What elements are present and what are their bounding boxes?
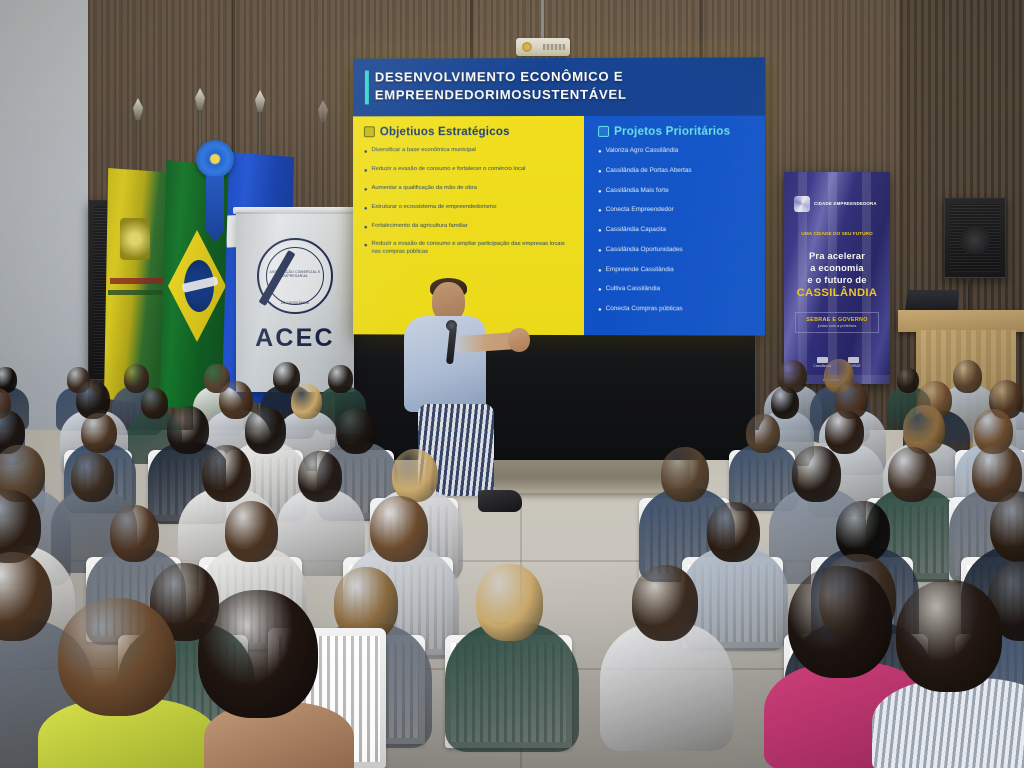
side-wall — [0, 0, 92, 430]
flag-band — [110, 278, 164, 284]
audience-member-head — [58, 598, 176, 716]
slide-bullet-objective-text: Reduzir a evasão de consumo e ampliar pa… — [371, 241, 575, 256]
ceiling-projector-icon — [516, 38, 570, 56]
slide-bullet-project: ●Conecta Empreendedor — [598, 206, 757, 217]
audience-member-head — [476, 564, 543, 640]
slide-title-line1: DESENVOLVIMENTO ECONÔMICO E — [375, 67, 757, 86]
bullet-dot-icon: ● — [598, 167, 602, 178]
bullet-dot-icon: ● — [598, 246, 602, 257]
banner-callout-line2: juntos com a prefeitura — [798, 324, 876, 328]
audience-member-head — [788, 566, 892, 678]
slide-bullet-objective-text: Fortalecimento da agricultura familiar — [371, 222, 467, 233]
slide-right-heading-text: Projetos Prioritários — [614, 125, 730, 138]
audience-member-foreground — [178, 590, 398, 768]
banner-callout-box: SEBRAE E GOVERNO juntos com a prefeitura — [795, 312, 879, 333]
conference-photo-scene: ASSOCIAÇÃO COMERCIAL E EMPRESARIAL DE CA… — [0, 0, 1024, 768]
audience-member-torso — [445, 622, 579, 752]
bullet-dot-icon: ● — [598, 206, 602, 217]
microphone-stand — [968, 280, 970, 314]
slide-bullet-objective: ●Reduzir a evasão de consumo e fortalece… — [364, 166, 575, 177]
presenter-shoe — [478, 490, 522, 512]
slide-right-column: Projetos Prioritários ●Valoriza Agro Cas… — [584, 116, 765, 336]
bullet-dot-icon: ● — [364, 147, 368, 158]
bullet-dot-icon: ● — [598, 187, 602, 198]
slide-right-bullets: ●Valoriza Agro Cassilândia●Cassilândia d… — [598, 147, 757, 317]
slide-bullet-project: ●Cassilândia Oportunidades — [598, 246, 757, 258]
slide-bullet-project-text: Empreende Cassilândia — [606, 266, 674, 278]
slide-title-accent-bar — [365, 71, 369, 105]
document-badge-icon — [598, 126, 609, 137]
slide-bullet-project-text: Valoriza Agro Cassilândia — [606, 147, 679, 158]
slide-left-heading-text: Objetiuos Estratégicos — [380, 125, 510, 138]
audience-member-head — [198, 590, 318, 718]
slide-bullet-project-text: Cassilândia Mais forte — [606, 187, 669, 198]
slide-left-bullets: ●Diversificar a base econômica municipal… — [364, 147, 575, 256]
banner-city-name: CASSILÂNDIA — [788, 286, 886, 300]
audience-member-head — [707, 502, 760, 563]
sebrae-rollup-banner: CIDADE EMPREENDEDORA UMA CIDADE DO SEU F… — [784, 172, 890, 384]
brazil-flag-globe — [184, 260, 214, 312]
slide-title-line2: EMPREENDEDORIMOSUSTENTÁVEL — [375, 85, 757, 104]
banner-headline-line1: Pra acelerar — [788, 250, 886, 262]
audience-member — [597, 565, 736, 764]
flag-rosette-ribbon — [206, 176, 224, 242]
slide-bullet-project: ●Cassilândia de Portas Abertas — [598, 167, 757, 179]
slide-header: DESENVOLVIMENTO ECONÔMICO E EMPREENDEDOR… — [353, 57, 765, 116]
flag-band — [108, 290, 164, 295]
banner-headline-line2: a economia — [788, 262, 886, 274]
slide-bullet-objective: ●Diversificar a base econômica municipal — [364, 147, 575, 159]
slide-title: DESENVOLVIMENTO ECONÔMICO E EMPREENDEDOR… — [375, 67, 757, 103]
audience-member-head — [370, 496, 428, 562]
slide-bullet-objective-text: Aumentar a qualificação da mão de obra — [371, 185, 476, 196]
bullet-dot-icon: ● — [364, 204, 368, 215]
slide-left-heading: Objetiuos Estratégicos — [364, 125, 575, 138]
slide-bullet-objective: ●Fortalecimento da agricultura familiar — [364, 222, 575, 234]
bullet-dot-icon: ● — [598, 286, 602, 297]
bullet-dot-icon: ● — [598, 266, 602, 277]
banner-logo: CIDADE EMPREENDEDORA — [794, 196, 882, 212]
speaker-woofer — [960, 225, 990, 255]
lectern-top — [898, 310, 1024, 332]
audience-member-head — [225, 501, 279, 562]
slide-right-heading: Projetos Prioritários — [598, 125, 757, 138]
audience-member-torso — [600, 622, 732, 751]
slide-bullet-objective: ●Reduzir a evasão de consumo e ampliar p… — [364, 241, 575, 256]
audience-member-head — [202, 445, 252, 502]
slide-bullet-project: ●Cassilândia Capacita — [598, 226, 757, 238]
banner-kicker: UMA CIDADE DO SEU FUTURO — [784, 232, 890, 238]
slide-bullet-project: ●Empreende Cassilândia — [598, 266, 757, 278]
bullet-dot-icon: ● — [364, 222, 368, 233]
slide-bullet-objective: ●Estruturar o ecossistema de empreendedo… — [364, 204, 575, 215]
bullet-dot-icon: ● — [598, 147, 602, 158]
audience-member-head — [896, 580, 1002, 692]
audience-member-head — [81, 413, 117, 454]
slide-bullet-objective-text: Estruturar o ecossistema de empreendedor… — [371, 204, 496, 215]
slide-bullet-project-text: Cassilândia de Portas Abertas — [606, 167, 692, 178]
audience-member-head — [661, 447, 709, 502]
projector-mount-rod — [541, 0, 544, 42]
flag-rosette — [196, 140, 234, 178]
slide-bullet-objective-text: Reduzir a evasão de consumo e fortalecer… — [371, 166, 525, 177]
bullet-dot-icon: ● — [364, 166, 368, 177]
slide-bullet-project-text: Cassilândia Capacita — [606, 226, 666, 237]
bullet-dot-icon: ● — [598, 305, 602, 316]
list-badge-icon — [364, 126, 375, 137]
slide-bullet-project: ●Conecta Compras públicas — [598, 305, 757, 317]
slide-bullet-project-text: Conecta Compras públicas — [606, 305, 683, 317]
presenter-shirt — [404, 316, 486, 412]
projector-lens — [522, 42, 532, 52]
slide-bullet-project-text: Cassilândia Oportunidades — [606, 246, 683, 258]
bullet-dot-icon: ● — [364, 185, 368, 196]
bullet-dot-icon: ● — [598, 226, 602, 237]
audience-member-head — [888, 447, 936, 502]
wall-speaker-right — [944, 198, 1006, 278]
audience-member-head — [836, 501, 890, 563]
audience-member — [442, 564, 582, 765]
audience-member-head — [298, 451, 342, 501]
audience-member-head — [336, 408, 376, 454]
slide-bullet-project-text: Cultiva Cassilândia — [606, 286, 661, 298]
microphone-capsule — [446, 320, 457, 331]
slide-bullet-objective: ●Aumentar a qualificação da mão de obra — [364, 185, 575, 196]
cidade-empreendedora-icon — [794, 196, 810, 212]
projector-vent — [543, 44, 565, 50]
presenter-hand — [508, 328, 530, 352]
slide-bullet-project-text: Conecta Empreendedor — [606, 206, 674, 217]
banner-callout-line1: SEBRAE E GOVERNO — [798, 317, 876, 323]
slide-bullet-project: ●Cassilândia Mais forte — [598, 187, 757, 198]
banner-logo-text: CIDADE EMPREENDEDORA — [814, 201, 877, 207]
audience-member-head — [392, 449, 439, 502]
bullet-dot-icon: ● — [364, 241, 368, 255]
slide-bullet-objective-text: Diversificar a base econômica municipal — [371, 147, 475, 158]
audience-member-head — [110, 505, 160, 562]
slide-bullet-project: ●Cultiva Cassilândia — [598, 286, 757, 298]
municipal-flag-emblem — [120, 218, 150, 260]
slide-bullet-project: ●Valoriza Agro Cassilândia — [598, 147, 757, 159]
audience-member-foreground — [886, 580, 1024, 768]
audience-member-head — [632, 565, 698, 640]
audience-member-head — [792, 446, 841, 502]
banner-headline-line3: e o futuro de — [788, 274, 886, 286]
banner-headline: Pra acelerar a economia e o futuro de CA… — [788, 250, 886, 300]
